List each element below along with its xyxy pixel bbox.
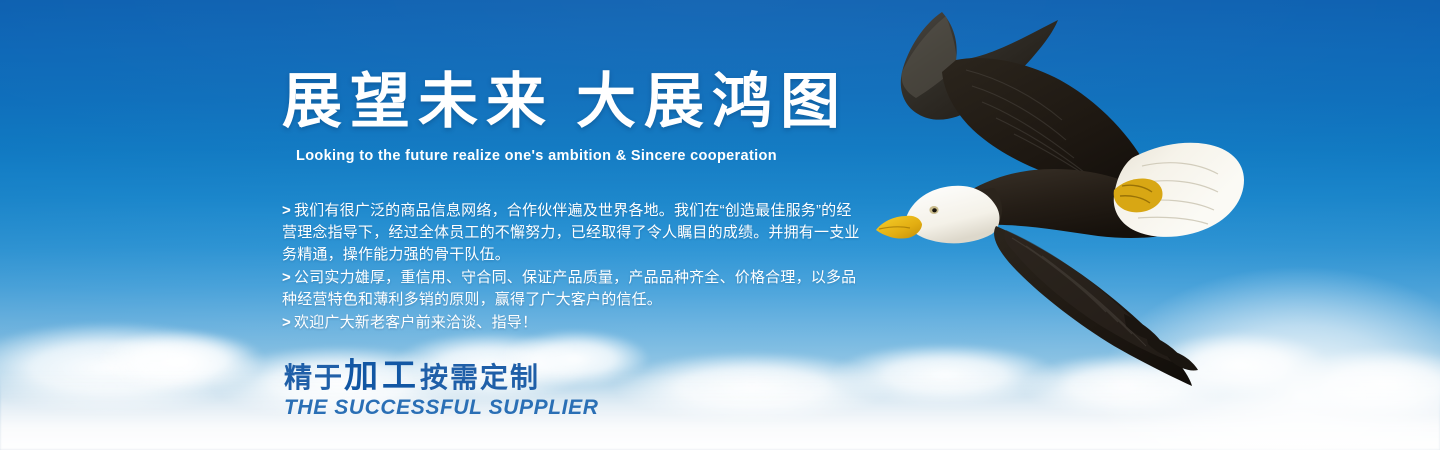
cloud-puff — [1020, 354, 1230, 418]
eagle-wingtip-feather — [1168, 350, 1198, 371]
eagle-tail — [1114, 143, 1244, 237]
body-copy: >我们有很广泛的商品信息网络，合作伙伴遍及世界各地。我们在“创造最佳服务”的经营… — [282, 200, 862, 334]
eagle-beak — [876, 216, 922, 239]
banner-content: 展望未来大展鸿图 Looking to the future realize o… — [0, 0, 880, 450]
body-paragraph-text: 我们有很广泛的商品信息网络，合作伙伴遍及世界各地。我们在“创造最佳服务”的经营理… — [282, 202, 860, 263]
cloud-puff — [1280, 348, 1440, 420]
eagle-neck-shadow — [942, 188, 1002, 222]
eagle-feather-lines — [966, 70, 1096, 182]
body-paragraph: >我们有很广泛的商品信息网络，合作伙伴遍及世界各地。我们在“创造最佳服务”的经营… — [282, 200, 862, 266]
eagle-head — [906, 186, 999, 244]
bullet-marker: > — [282, 202, 291, 219]
eagle-talons — [1114, 178, 1163, 212]
eagle-image — [846, 0, 1266, 394]
eagle-wingtip-feather — [1146, 334, 1182, 358]
eagle-beak-line — [879, 227, 910, 229]
body-paragraph-text: 欢迎广大新老客户前来洽谈、指导！ — [294, 314, 537, 331]
slogan-accent: 加工 — [344, 356, 420, 396]
eagle-lower-feather-lines — [1012, 238, 1146, 346]
body-paragraph: >公司实力雄厚，重信用、守合同、保证产品质量，产品品种齐全、价格合理，以多品种经… — [282, 267, 862, 311]
slogan-chinese: 精于加工按需定制 — [284, 360, 598, 394]
eagle-lower-wing-shade — [1004, 230, 1172, 362]
eagle-wingtip-feather — [1124, 314, 1160, 340]
eagle-pupil — [932, 208, 937, 212]
slogan-suffix: 按需定制 — [420, 361, 540, 394]
bullet-marker: > — [282, 314, 291, 331]
slogan-english: THE SUCCESSFUL SUPPLIER — [284, 396, 598, 420]
page-title: 展望未来大展鸿图 — [282, 72, 848, 132]
cloud-puff — [1150, 332, 1330, 398]
eagle-torso — [942, 169, 1188, 238]
body-paragraph: >欢迎广大新老客户前来洽谈、指导！ — [282, 312, 862, 334]
eagle-lower-wing — [994, 226, 1192, 386]
eagle-upper-wing — [942, 58, 1160, 200]
headline-part-2: 大展鸿图 — [576, 67, 848, 137]
headline-part-1: 展望未来 — [282, 67, 554, 137]
hero-banner: 展望未来大展鸿图 Looking to the future realize o… — [0, 0, 1440, 450]
corner-glow — [1040, 230, 1440, 450]
eagle-wing-highlight — [902, 16, 957, 98]
eagle-far-wingtip — [901, 12, 1058, 120]
body-paragraph-text: 公司实力雄厚，重信用、守合同、保证产品质量，产品品种齐全、价格合理，以多品种经营… — [282, 269, 856, 308]
slogan-block: 精于加工按需定制 THE SUCCESSFUL SUPPLIER — [284, 360, 598, 420]
bullet-marker: > — [282, 269, 291, 286]
eagle-talon-lines — [1120, 185, 1152, 203]
page-subtitle: Looking to the future realize one's ambi… — [296, 148, 777, 164]
eagle-tail-lines — [1134, 163, 1218, 224]
eagle-eye — [929, 206, 938, 214]
slogan-prefix: 精于 — [284, 361, 344, 394]
